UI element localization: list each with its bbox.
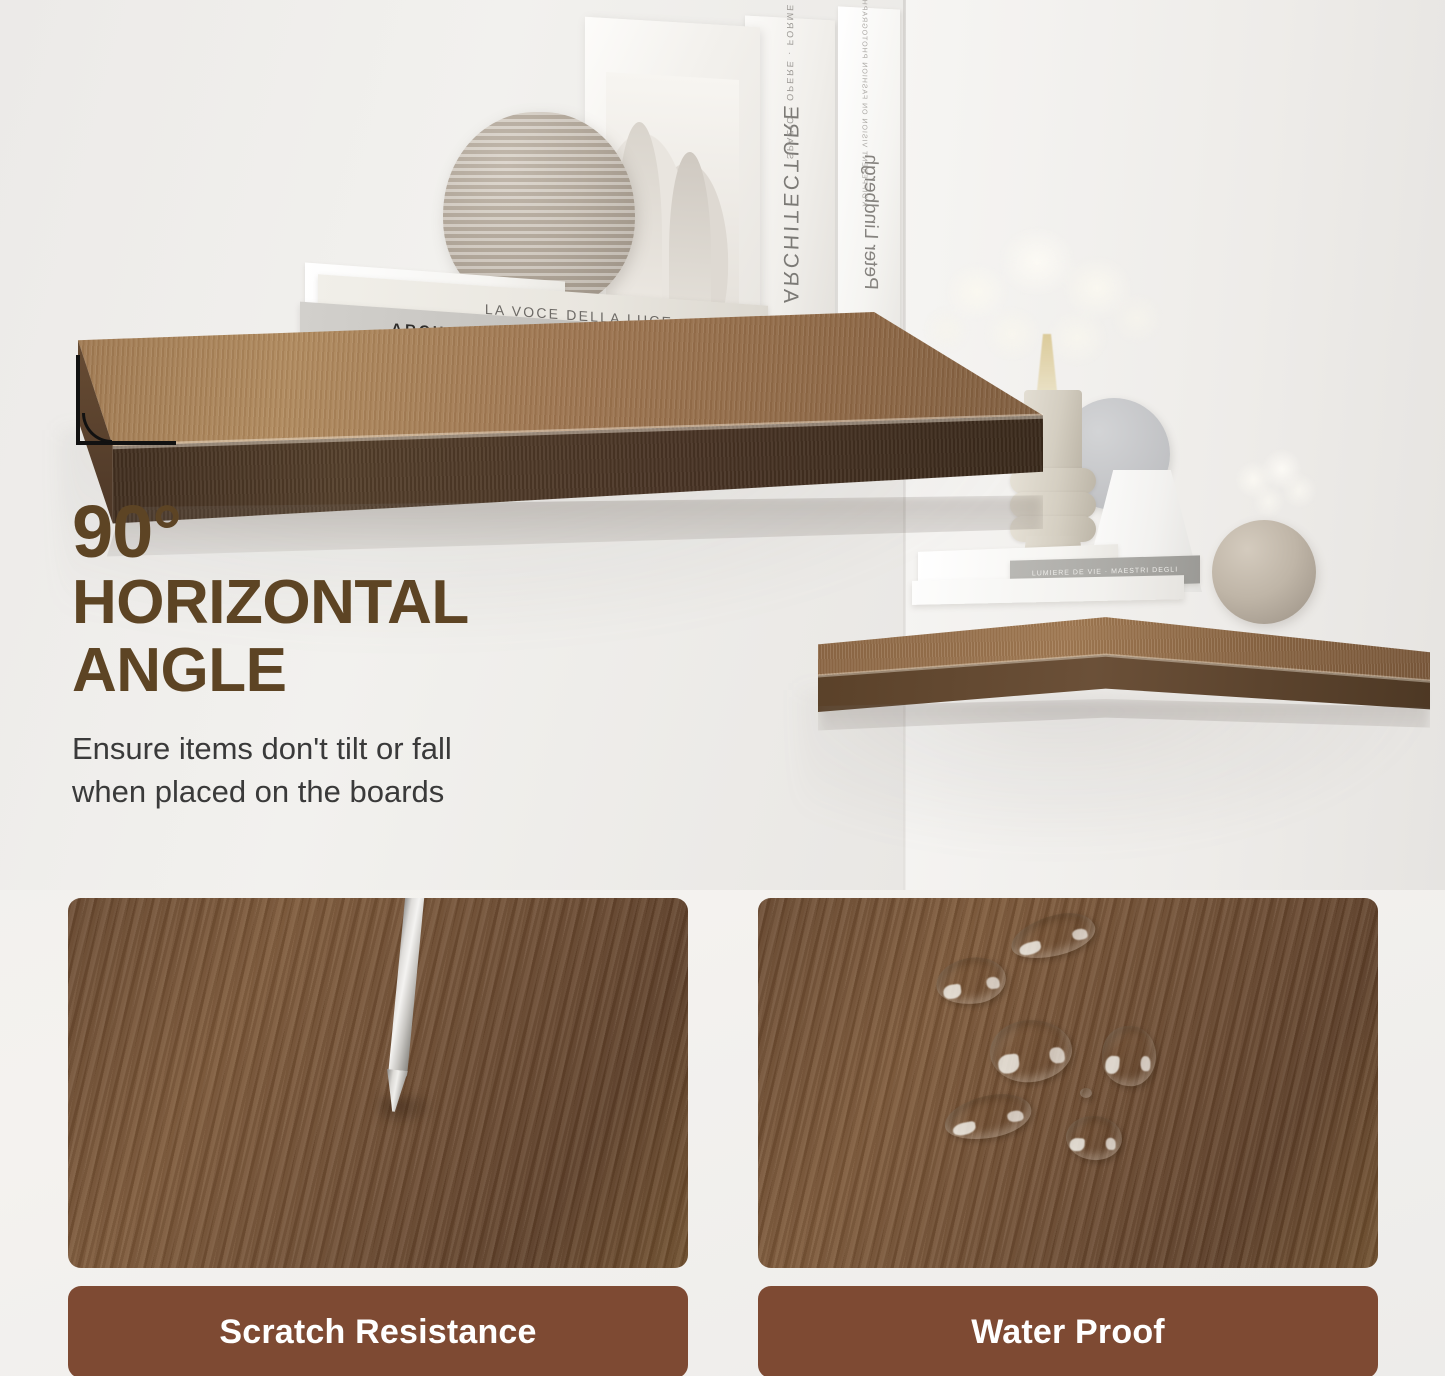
feature-scratch-resistance: Scratch Resistance	[68, 898, 688, 1376]
water-proof-label: Water Proof	[758, 1286, 1378, 1376]
water-droplet	[941, 1088, 1035, 1146]
droplet-glint	[1007, 1109, 1025, 1123]
book-spine-subtitle: SPAZIO · OPERE · FORME	[785, 2, 795, 159]
droplet-glint	[952, 1121, 977, 1138]
droplet-glint	[1071, 927, 1088, 941]
product-infographic-page: LUMIERE DE VIE · MAESTRI DEGLI ARCHITECT…	[0, 0, 1445, 1376]
right-angle-icon	[70, 355, 180, 455]
scratch-resistance-label: Scratch Resistance	[68, 1286, 688, 1376]
water-proof-photo	[758, 898, 1378, 1268]
screwdriver-icon	[368, 898, 428, 1120]
subtitle-line-2: when placed on the boards	[72, 771, 752, 814]
screwdriver-shaft	[388, 898, 425, 1077]
water-droplet	[1080, 1088, 1092, 1098]
droplet-glint	[1049, 1046, 1065, 1064]
water-droplet	[1065, 1115, 1123, 1162]
screwdriver-tip-shadow	[378, 1096, 436, 1126]
feature-water-proof: Water Proof	[758, 898, 1378, 1376]
water-droplet	[987, 1016, 1075, 1086]
angle-horizontal-line	[76, 441, 176, 445]
droplet-glint	[942, 983, 962, 999]
droplet-glint	[1106, 1138, 1117, 1150]
subtitle-line-1: Ensure items don't tilt or fall	[72, 728, 752, 771]
droplet-glint	[986, 976, 1000, 990]
feature-panels: Scratch Resistance	[68, 898, 1378, 1376]
scratch-resistance-photo	[68, 898, 688, 1268]
water-droplet	[933, 953, 1009, 1008]
headline-line-2: ANGLE	[72, 640, 752, 702]
water-droplet	[1007, 907, 1100, 965]
droplet-glint	[1070, 1138, 1085, 1152]
angle-arc	[82, 413, 112, 443]
angle-value-heading: 90°	[72, 498, 752, 566]
droplet-glint	[1018, 940, 1042, 957]
water-droplets-group	[758, 898, 1378, 1268]
headline-line-1: HORIZONTAL	[72, 572, 752, 634]
dried-flowers-small	[1218, 442, 1328, 532]
droplet-glint	[997, 1054, 1020, 1075]
headline-block: 90° HORIZONTAL ANGLE Ensure items don't …	[72, 498, 752, 814]
water-droplet	[1100, 1024, 1158, 1088]
angle-vertical-line	[76, 355, 80, 445]
droplet-glint	[1105, 1056, 1120, 1075]
droplet-glint	[1140, 1056, 1151, 1072]
book-spine-subtitle: A DIFFERENT VISION ON FASHION PHOTOGRAPH…	[861, 0, 868, 206]
lower-floating-shelf	[818, 608, 1430, 738]
